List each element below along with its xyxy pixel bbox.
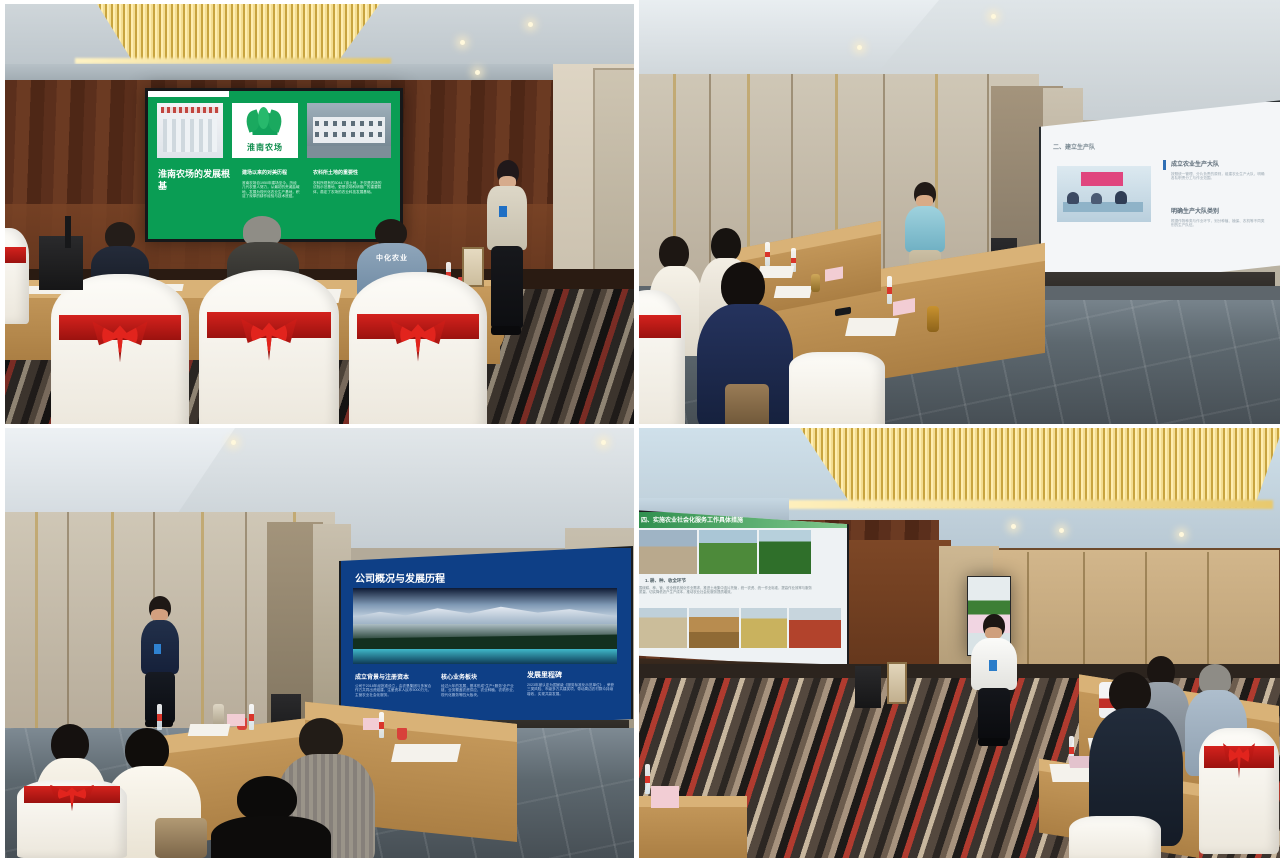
slide-heading: 二、建立生产队 bbox=[1053, 142, 1095, 151]
led-screen: 四、实施农业社会化服务工作具体措施 1. 耕、种、收全环节 围绕耕、种、管、收全… bbox=[639, 510, 849, 668]
ceiling-spot-icon bbox=[857, 45, 862, 50]
mic-stand bbox=[65, 216, 71, 248]
slide-section1-title: 成立农业生产大队 bbox=[1171, 159, 1219, 168]
chair-with-sash bbox=[1199, 728, 1279, 854]
chandelier-rim bbox=[783, 500, 1273, 509]
slide-col2-title: 农科所土地的重要性 bbox=[313, 169, 383, 176]
loudspeaker bbox=[39, 236, 83, 290]
collage-panel-top-right: 二、建立生产队 成立农业生产大队 按照统一管理、分片负责的原则，组建农业生产大队… bbox=[639, 0, 1280, 428]
slide-heading: 公司概况与发展历程 bbox=[355, 570, 445, 585]
scene-top-right: 二、建立生产队 成立农业生产大队 按照统一管理、分片负责的原则，组建农业生产大队… bbox=[639, 0, 1280, 424]
slide-heading: 淮南农场的发展根基 bbox=[158, 169, 236, 192]
collage-panel-top-left: 淮南农场 淮南农场的发展根基 建场以来的对美历程 淮南农场自1950年建场至今，… bbox=[0, 0, 639, 428]
ceiling-spot-icon bbox=[991, 14, 996, 19]
chair-with-sash bbox=[17, 780, 127, 858]
slide-banner-image bbox=[353, 588, 617, 664]
handbag bbox=[725, 384, 769, 424]
loudspeaker bbox=[855, 666, 881, 708]
slide-col3-body: 2023年被认定为国家级《服务标准化示范单位》，荣获三类风险、市级多方共建奖项，… bbox=[527, 683, 615, 696]
paper-cup bbox=[397, 728, 407, 740]
ceiling-spot-icon bbox=[460, 40, 465, 45]
slide-section1-body: 按照统一管理、分片负责的原则，组建农业生产大队，明确各队职责分工与作业范围。 bbox=[1171, 172, 1267, 181]
slide-section2-body: 根据作物种类与作业环节，划分种植、植保、农机等不同类别的生产队伍。 bbox=[1171, 219, 1267, 228]
slide-image-green bbox=[759, 530, 811, 574]
chair-with-sash bbox=[1069, 816, 1161, 858]
chair-with-sash bbox=[51, 274, 189, 424]
lanyard-badge bbox=[154, 644, 161, 654]
slide-col2-body: 农科所现有的3044.7亩土地，不仅是农场的试验示范基地，更是农场科研推广的重要… bbox=[313, 181, 383, 194]
shirt-back-text: 中化农业 bbox=[357, 253, 427, 263]
attendee-foreground bbox=[211, 776, 331, 858]
slide-logo: 淮南农场 bbox=[232, 103, 298, 158]
slide-heading: 四、实施农业社会化服务工作具体措施 bbox=[641, 515, 743, 524]
name-tent bbox=[651, 786, 679, 808]
slide-body-text: 围绕耕、种、管、收全程机械化作业需求，推进土地集中连片托管，统一农资、统一作业标… bbox=[639, 586, 815, 595]
collage-panel-bottom-right: 四、实施农业社会化服务工作具体措施 1. 耕、种、收全环节 围绕耕、种、管、收全… bbox=[639, 428, 1280, 858]
slide-col1-body: 淮南农场自1950年建场至今，历经几代农垦人努力，从最初的荒滩盐碱地，发展为现代… bbox=[242, 181, 300, 199]
thermos-flask bbox=[927, 306, 939, 332]
water-bottle bbox=[249, 704, 254, 730]
ceiling-spot-icon bbox=[601, 440, 606, 445]
led-screen: 公司概况与发展历程 成立背景与注册资本 公司于2018年经批准设立，由农垦集团与… bbox=[339, 546, 633, 734]
chair-with-sash bbox=[5, 228, 29, 324]
chair-with-sash bbox=[789, 352, 885, 424]
slide-col2-body: 经过六年的发展，基本形成“生产+服务”全产业链，业务覆盖农资供应、农业种植、农机… bbox=[441, 684, 519, 697]
water-bottle bbox=[379, 712, 384, 738]
slide-photo bbox=[1057, 166, 1151, 222]
bullet-marker bbox=[1163, 160, 1166, 170]
slide-col1-title: 建场以来的对美历程 bbox=[242, 169, 304, 176]
slide-col1-title: 成立背景与注册资本 bbox=[355, 672, 409, 681]
table-sign bbox=[887, 662, 907, 704]
photo-collage: 淮南农场 淮南农场的发展根基 建场以来的对美历程 淮南农场自1950年建场至今，… bbox=[0, 0, 1280, 858]
lanyard-badge bbox=[989, 660, 997, 671]
chair-with-sash bbox=[639, 290, 685, 424]
presenter bbox=[971, 614, 1017, 748]
presenter bbox=[485, 160, 529, 340]
collage-panel-bottom-left: 公司概况与发展历程 成立背景与注册资本 公司于2018年经批准设立，由农垦集团与… bbox=[0, 428, 639, 858]
slide-image-aerial bbox=[689, 608, 739, 648]
water-bottle bbox=[645, 764, 650, 794]
slide-section-label: 1. 耕、种、收全环节 bbox=[645, 578, 686, 584]
water-bottle bbox=[157, 704, 162, 730]
slide-image-bale bbox=[639, 608, 687, 648]
slide-section2-title: 明确生产大队类别 bbox=[1171, 206, 1219, 215]
thermos-flask bbox=[811, 274, 820, 292]
ceiling-spot-icon bbox=[475, 70, 480, 75]
ceiling-spot-icon bbox=[1179, 532, 1184, 537]
notebook bbox=[845, 318, 899, 336]
ceiling-spot-icon bbox=[1059, 528, 1064, 533]
slide-image-3 bbox=[307, 103, 391, 158]
ceiling-spot-icon bbox=[1011, 524, 1016, 529]
slide-image-crop bbox=[699, 530, 757, 574]
slide-col2-title: 核心业务板块 bbox=[441, 672, 477, 681]
ceiling-spot-icon bbox=[231, 440, 236, 445]
led-screen: 二、建立生产队 成立农业生产大队 按照统一管理、分片负责的原则，组建农业生产大队… bbox=[1039, 100, 1280, 292]
slide-image-machine bbox=[789, 608, 841, 648]
slide-col3-title: 发展里程碑 bbox=[527, 670, 562, 680]
lanyard-badge bbox=[499, 206, 507, 217]
water-bottle bbox=[887, 276, 892, 304]
slide-image-harvest bbox=[741, 608, 787, 648]
chair-with-sash bbox=[199, 270, 339, 424]
slide-image-field bbox=[639, 530, 697, 574]
slide-logo-text: 淮南农场 bbox=[232, 142, 298, 153]
chair-with-sash bbox=[349, 272, 487, 424]
ceiling-spot-icon bbox=[528, 22, 533, 27]
handbag bbox=[155, 818, 207, 858]
scene-top-left: 淮南农场 淮南农场的发展根基 建场以来的对美历程 淮南农场自1950年建场至今，… bbox=[5, 4, 634, 424]
scene-bottom-left: 公司概况与发展历程 成立背景与注册资本 公司于2018年经批准设立，由农垦集团与… bbox=[5, 428, 634, 858]
scene-bottom-right: 四、实施农业社会化服务工作具体措施 1. 耕、种、收全环节 围绕耕、种、管、收全… bbox=[639, 428, 1280, 858]
slide-col1-body: 公司于2018年经批准设立，由农垦集团与多家合作方共同出资组建，注册资本人民币5… bbox=[355, 684, 433, 697]
slide-image-1 bbox=[157, 103, 223, 158]
document bbox=[391, 744, 461, 762]
